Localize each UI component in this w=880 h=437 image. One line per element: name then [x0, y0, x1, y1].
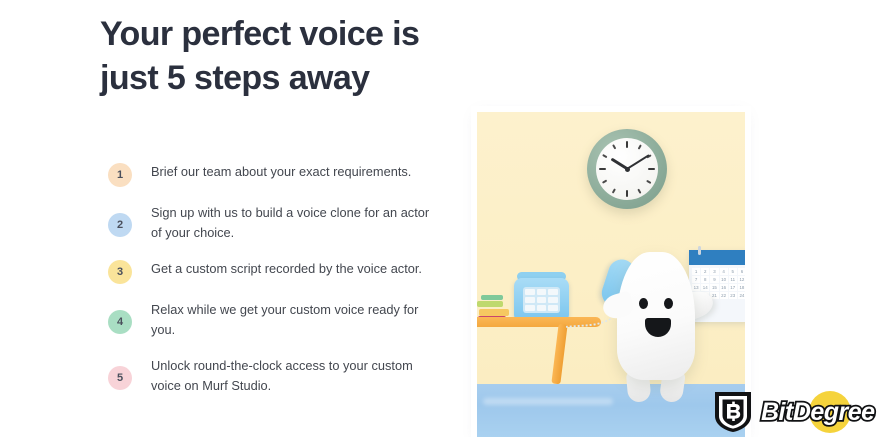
calendar-day: 10 [720, 276, 728, 283]
list-item: 5 Unlock round-the-clock access to your … [108, 356, 448, 396]
steps-list: 1 Brief our team about your exact requir… [108, 162, 448, 396]
calendar-day: 23 [729, 292, 737, 299]
calendar-day: 18 [738, 284, 745, 291]
step-description: Brief our team about your exact requirem… [151, 162, 411, 182]
step-description: Relax while we get your custom voice rea… [151, 300, 436, 340]
clock-minute-hand [626, 154, 649, 170]
list-item: 3 Get a custom script recorded by the vo… [108, 259, 448, 284]
step-number-badge: 5 [108, 366, 132, 390]
calendar-day: 22 [720, 292, 728, 299]
book-icon [479, 309, 509, 316]
book-icon [477, 301, 503, 307]
step-number-badge: 4 [108, 310, 132, 334]
step-description: Unlock round-the-clock access to your cu… [151, 356, 436, 396]
list-item: 1 Brief our team about your exact requir… [108, 162, 448, 187]
bitdegree-wordmark: BitDegree [761, 398, 875, 427]
calendar-day: 12 [738, 276, 745, 283]
telephone-icon [514, 278, 569, 320]
page-title: Your perfect voice is just 5 steps away [100, 12, 460, 100]
calendar-day: 16 [720, 284, 728, 291]
bitdegree-shield-icon [713, 390, 753, 434]
floor-highlight [483, 398, 613, 405]
mascot-eye [664, 298, 673, 309]
calendar-day: 3 [710, 268, 718, 275]
wall-clock-icon [587, 129, 667, 209]
step-description: Get a custom script recorded by the voic… [151, 259, 422, 279]
calendar-day: 11 [729, 276, 737, 283]
bitdegree-watermark: BitDegree [713, 389, 873, 435]
step-description: Sign up with us to build a voice clone f… [151, 203, 436, 243]
content-column: Your perfect voice is just 5 steps away … [100, 0, 445, 437]
step-number-badge: 2 [108, 213, 132, 237]
page-root: Your perfect voice is just 5 steps away … [0, 0, 880, 437]
mascot-body [617, 252, 695, 380]
mascot-character-icon [605, 252, 709, 412]
calendar-day: 5 [729, 268, 737, 275]
calendar-day: 17 [729, 284, 737, 291]
step-number-badge: 1 [108, 163, 132, 187]
step-number-badge: 3 [108, 260, 132, 284]
telephone-keypad [523, 287, 560, 313]
list-item: 4 Relax while we get your custom voice r… [108, 300, 448, 340]
book-icon [481, 295, 503, 300]
list-item: 2 Sign up with us to build a voice clone… [108, 203, 448, 243]
calendar-day: 9 [710, 276, 718, 283]
calendar-day: 6 [738, 268, 745, 275]
calendar-day: 15 [710, 284, 718, 291]
clock-face [596, 138, 658, 200]
illustration-card: 1 2 3 4 5 6 7 8 9 10 11 12 13 14 15 16 1… [477, 112, 745, 437]
calendar-day: 24 [738, 292, 745, 299]
calendar-day: 4 [720, 268, 728, 275]
clock-center-pin [625, 167, 630, 172]
mascot-eye [639, 298, 648, 309]
